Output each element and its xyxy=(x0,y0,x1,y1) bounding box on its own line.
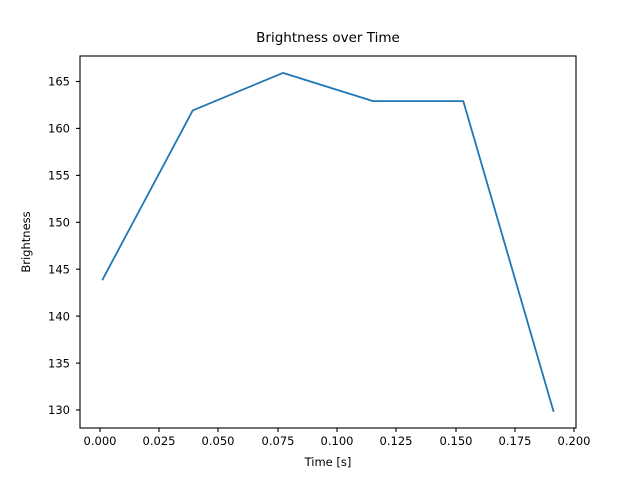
line-chart: Brightness over Time 0.000 0.025 0.050 0… xyxy=(0,0,640,480)
y-tick-label: 130 xyxy=(48,403,70,417)
x-axis-label: Time [s] xyxy=(304,455,352,469)
y-tick-label: 160 xyxy=(48,122,70,136)
y-tick-label: 140 xyxy=(48,309,70,323)
chart-title: Brightness over Time xyxy=(256,30,400,46)
x-tick-label: 0.175 xyxy=(499,434,532,448)
y-tick-label: 155 xyxy=(48,169,70,183)
x-tick-label: 0.200 xyxy=(558,434,591,448)
x-tick-label: 0.150 xyxy=(440,434,473,448)
y-tick-label: 135 xyxy=(48,356,70,370)
x-tick-label: 0.000 xyxy=(84,434,117,448)
x-tick-label: 0.025 xyxy=(143,434,176,448)
x-tick-label: 0.075 xyxy=(262,434,295,448)
y-tick-label: 150 xyxy=(48,216,70,230)
figure-canvas: Brightness over Time 0.000 0.025 0.050 0… xyxy=(0,0,640,480)
x-tick-labels: 0.000 0.025 0.050 0.075 0.100 0.125 0.15… xyxy=(84,434,591,448)
x-tick-label: 0.050 xyxy=(202,434,235,448)
x-tick-label: 0.100 xyxy=(321,434,354,448)
axes-background xyxy=(80,56,576,428)
y-tick-label: 165 xyxy=(48,75,70,89)
y-axis-label: Brightness xyxy=(19,211,33,272)
y-tick-label: 145 xyxy=(48,262,70,276)
x-tick-label: 0.125 xyxy=(380,434,413,448)
